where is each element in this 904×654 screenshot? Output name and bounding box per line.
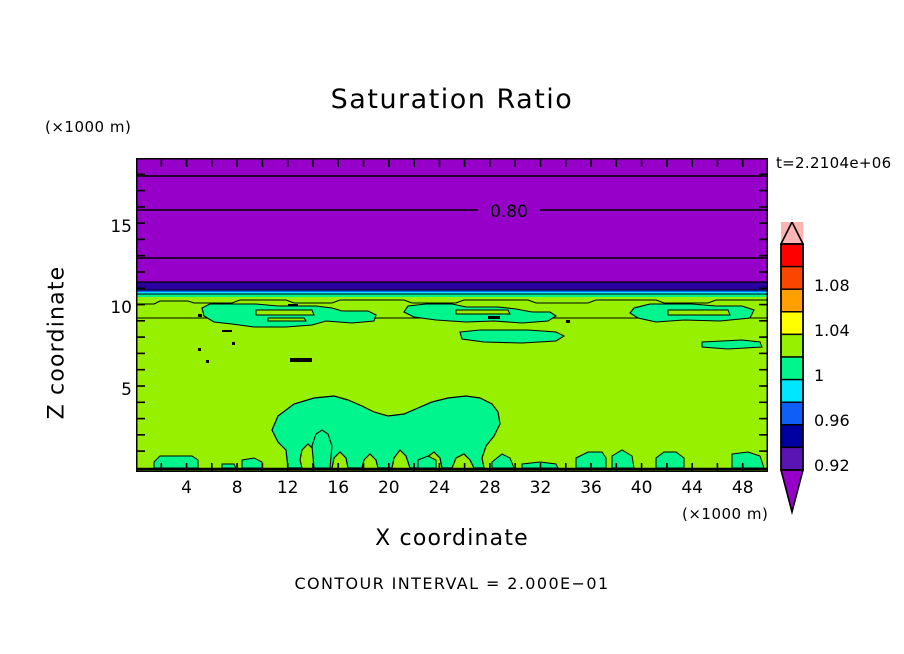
x-axis-units: (×1000 m) [682,505,768,523]
inclusion-dash-mid [488,316,500,319]
inclusion-bottom-spike [312,430,332,468]
colorbar-band [781,267,803,290]
x-tick-label: 40 [622,478,662,498]
colorbar-band [781,312,803,335]
contour-plot: 0.80 [136,158,768,472]
x-tick-label: 8 [217,478,257,498]
colorbar-tick-label: 0.92 [814,456,850,475]
bottom-fringe-2 [222,464,236,468]
y-tick-label: 5 [92,380,132,400]
colorbar-band [781,334,803,357]
colorbar-band [781,447,803,470]
colorbar-band [781,402,803,425]
x-tick-label: 28 [470,478,510,498]
x-tick-label: 44 [672,478,712,498]
inclusion-plume-upper-mid-lower [460,330,564,343]
contour-inline-label: 0.80 [490,202,528,222]
colorbar-cap-bottom [781,470,803,512]
y-tick-label: 10 [92,298,132,318]
colorbar-tick-label: 0.96 [814,411,850,430]
x-tick-label: 48 [723,478,763,498]
y-tick-labels: 51015 [92,0,132,654]
colorbar-band [781,380,803,403]
inclusion-plume-upper-mid-void [456,310,510,314]
page-title: Saturation Ratio [0,84,904,115]
inclusion-dash-center [288,304,298,306]
inclusion-dot-left [198,314,202,317]
colorbar[interactable] [776,222,816,522]
colorbar-bands [781,244,803,470]
bottom-fringe-7 [656,452,684,468]
colorbar-band [781,425,803,448]
x-axis-title: X coordinate [0,526,904,551]
contour-interval-caption: CONTOUR INTERVAL = 2.000E−01 [0,574,904,593]
layer-upper-purple [136,158,768,290]
colorbar-band [781,244,803,267]
inclusion-dash-z10 [290,358,312,362]
colorbar-tick-label: 1.04 [814,321,850,340]
x-tick-label: 20 [369,478,409,498]
inclusion-dot-a [232,342,235,345]
x-tick-label: 32 [520,478,560,498]
inclusion-plume-upper-left-void [256,310,314,315]
colorbar-band [781,289,803,312]
y-tick-label: 15 [92,217,132,237]
inclusion-dash-left [222,330,232,332]
colorbar-tick-label: 1.08 [814,276,850,295]
x-tick-label: 4 [167,478,207,498]
inclusion-plume-right-small [702,340,762,349]
colorbar-band [781,357,803,380]
x-tick-label: 24 [419,478,459,498]
inclusion-dot-mid [566,320,570,323]
inclusion-plume-upper-left-tail [268,318,306,321]
x-tick-labels: 4812162024283236404448 [0,478,904,504]
inclusion-dot-c [198,348,201,351]
layer-dark-blue-band [136,282,768,290]
inclusion-dot-b [206,360,209,363]
inclusion-plume-upper-right-void [668,310,730,315]
x-tick-label: 12 [268,478,308,498]
z-axis-title: Z coordinate [45,248,70,438]
x-tick-label: 36 [571,478,611,498]
x-tick-label: 16 [318,478,358,498]
